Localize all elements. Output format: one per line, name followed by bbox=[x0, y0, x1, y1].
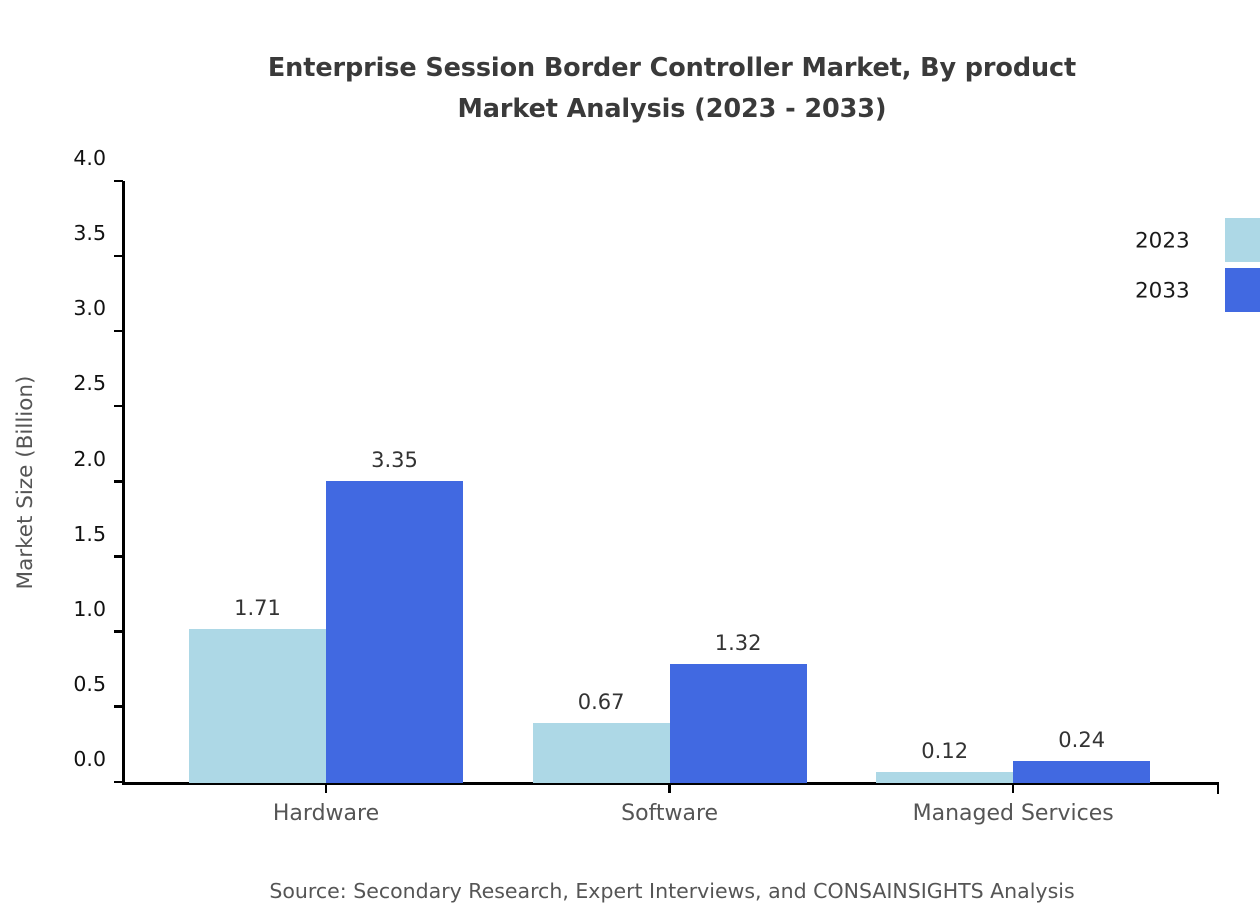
legend-label-2023: 2023 bbox=[1135, 229, 1190, 254]
legend-item-2023[interactable]: 2023 bbox=[1135, 216, 1260, 266]
bar-value-label: 0.12 bbox=[921, 739, 968, 763]
y-axis-title: Market Size (Billion) bbox=[13, 182, 49, 783]
x-tick-label-software: Software bbox=[621, 801, 718, 826]
bar-managed-services-2023[interactable]: 0.12 bbox=[876, 772, 1013, 783]
x-tick-mark bbox=[668, 784, 670, 793]
legend-item-2033[interactable]: 2033 bbox=[1135, 266, 1260, 316]
y-tick-mark bbox=[114, 405, 123, 407]
bar-software-2033[interactable]: 1.32 bbox=[670, 664, 807, 783]
bar-software-2023[interactable]: 0.67 bbox=[533, 723, 670, 783]
chart-legend: 2023 2033 bbox=[1135, 216, 1260, 316]
x-tick-label-managed-services: Managed Services bbox=[913, 801, 1114, 826]
legend-label-2033: 2033 bbox=[1135, 279, 1190, 304]
x-tick-mark bbox=[1012, 784, 1014, 793]
y-tick-mark bbox=[114, 330, 123, 332]
y-tick-label: 2.5 bbox=[73, 371, 106, 395]
bar-value-label: 1.71 bbox=[234, 596, 281, 620]
y-tick-label: 1.0 bbox=[73, 597, 106, 621]
bar-hardware-2033[interactable]: 3.35 bbox=[326, 481, 463, 783]
bar-value-label: 1.32 bbox=[715, 631, 762, 655]
chart-title-line-1: Enterprise Session Border Controller Mar… bbox=[0, 48, 1260, 89]
x-tick-label-hardware: Hardware bbox=[273, 801, 379, 826]
x-axis-end-tick bbox=[1217, 784, 1220, 794]
y-tick-label: 0.0 bbox=[73, 747, 106, 771]
y-tick-mark bbox=[114, 781, 123, 783]
bar-value-label: 0.24 bbox=[1058, 728, 1105, 752]
y-tick-mark bbox=[114, 630, 123, 632]
chart-title: Enterprise Session Border Controller Mar… bbox=[0, 48, 1260, 130]
bar-hardware-2023[interactable]: 1.71 bbox=[189, 629, 326, 783]
y-tick-mark bbox=[114, 180, 123, 182]
y-tick-mark bbox=[114, 705, 123, 707]
y-tick-label: 4.0 bbox=[73, 146, 106, 170]
y-tick-mark bbox=[114, 255, 123, 257]
y-tick-label: 2.0 bbox=[73, 447, 106, 471]
chart-title-line-2: Market Analysis (2023 - 2033) bbox=[0, 89, 1260, 130]
bar-value-label: 3.35 bbox=[371, 448, 418, 472]
bar-value-label: 0.67 bbox=[578, 690, 625, 714]
legend-swatch-2033 bbox=[1225, 268, 1260, 312]
y-tick-label: 1.5 bbox=[73, 522, 106, 546]
y-tick-mark bbox=[114, 480, 123, 482]
source-note: Source: Secondary Research, Expert Inter… bbox=[0, 879, 1260, 903]
y-tick-label: 3.5 bbox=[73, 221, 106, 245]
plot-area: 0.0 0.5 1.0 1.5 2.0 2.5 3.0 3.5 4.0 Hard… bbox=[122, 182, 1219, 783]
legend-swatch-2023 bbox=[1225, 218, 1260, 262]
bar-managed-services-2033[interactable]: 0.24 bbox=[1013, 761, 1150, 783]
x-tick-mark bbox=[325, 784, 327, 793]
y-tick-mark bbox=[114, 555, 123, 557]
y-tick-label: 0.5 bbox=[73, 672, 106, 696]
y-tick-label: 3.0 bbox=[73, 296, 106, 320]
chart-figure: Enterprise Session Border Controller Mar… bbox=[0, 0, 1260, 920]
